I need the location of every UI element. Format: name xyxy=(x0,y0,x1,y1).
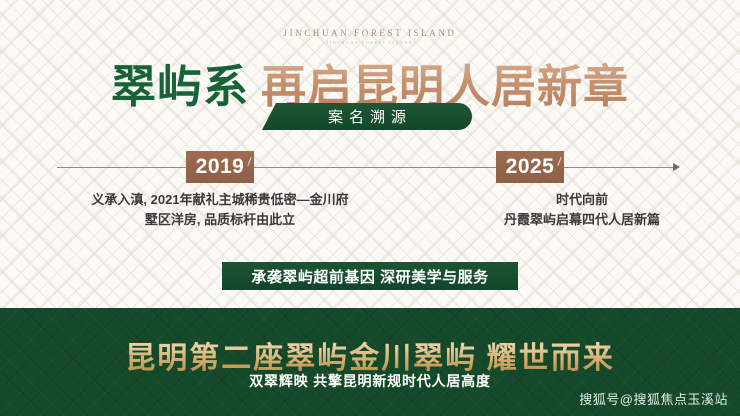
poster-root: JINCHUAN FOREST ISLAND JINCHUAN FOREST I… xyxy=(0,0,740,416)
timeline-description-2025-line2: 丹霞翠屿启幕四代人居新篇 xyxy=(432,210,732,230)
timeline-description-2019: 义承入滇, 2021年献礼主城稀贵低密—金川府 墅区洋房, 品质标杆由此立 xyxy=(40,190,400,230)
timeline-badge-2025: 2025 xyxy=(496,151,564,183)
timeline-description-2019-line2: 墅区洋房, 品质标杆由此立 xyxy=(40,210,400,230)
timeline-axis xyxy=(57,167,677,168)
brand-logo: JINCHUAN FOREST ISLAND JINCHUAN FOREST I… xyxy=(0,28,740,45)
timeline-badge-tick-icon xyxy=(557,157,561,166)
callout-box-text: 承袭翠屿超前基因 深研美学与服务 xyxy=(251,266,488,287)
timeline-badge-2019: 2019 xyxy=(186,151,254,183)
watermark: 搜狐号@搜狐焦点玉溪站 xyxy=(579,389,728,408)
callout-box: 承袭翠屿超前基因 深研美学与服务 xyxy=(222,262,518,290)
timeline-badge-2025-year: 2025 xyxy=(506,155,555,179)
timeline-description-2025: 时代向前 丹霞翠屿启幕四代人居新篇 xyxy=(432,190,732,230)
timeline-description-2025-line1: 时代向前 xyxy=(432,190,732,210)
timeline-arrow-icon xyxy=(673,163,680,171)
timeline-badge-tick-icon xyxy=(247,157,251,166)
section-ribbon: 案名溯源 xyxy=(262,103,472,130)
brand-name-en-sub: JINCHUAN FOREST ISLAND xyxy=(0,40,740,45)
bottom-subheadline: 双翠辉映 共擎昆明新规时代人居高度 xyxy=(0,371,740,391)
section-ribbon-label: 案名溯源 xyxy=(322,106,412,127)
timeline-badge-2019-year: 2019 xyxy=(196,155,245,179)
page-title-series: 翠屿系 xyxy=(111,62,249,112)
timeline-description-2019-line1: 义承入滇, 2021年献礼主城稀贵低密—金川府 xyxy=(40,190,400,210)
brand-name-en: JINCHUAN FOREST ISLAND xyxy=(0,28,740,38)
